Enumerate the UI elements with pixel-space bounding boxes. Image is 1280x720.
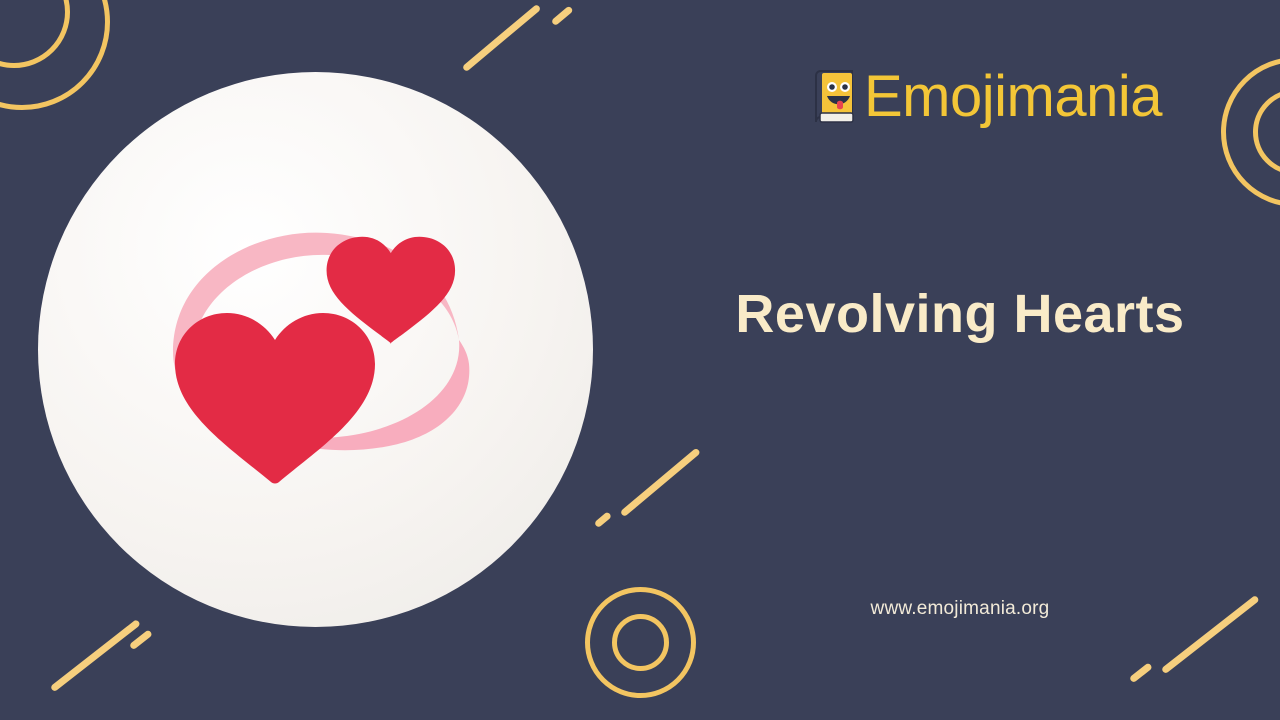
dash-middle-long [620,448,701,518]
brand-logo[interactable]: Emojimania [812,68,1162,126]
brand-name: Emojimania [864,68,1162,126]
smiling-book-icon [812,70,856,124]
dash-middle-short [594,511,612,528]
dash-bottom-left-short [129,629,153,650]
revolving-hearts-emoji [151,200,481,500]
dash-top-long [462,4,542,72]
site-url: www.emojimania.org [640,598,1280,620]
emoji-banner-page: Emojimania Revolving Hearts www.emojiman… [0,0,1280,720]
emoji-disc [38,72,593,627]
dash-bottom-right-short [1129,662,1153,683]
dash-bottom-left-long [50,619,141,692]
ring-bottom-center-inner [612,614,669,671]
page-title: Revolving Hearts [640,283,1280,345]
dash-top-short [551,5,574,26]
heart-large [175,313,375,484]
